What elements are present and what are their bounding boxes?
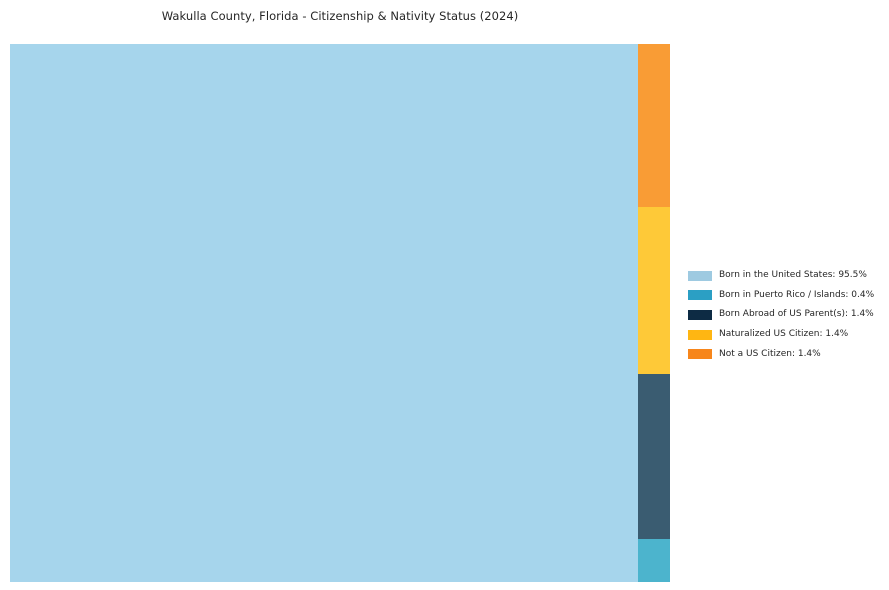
legend-item-not-a-us-citizen[interactable]: Not a US Citizen: 1.4% [688, 344, 878, 364]
legend-swatch-icon [688, 271, 712, 281]
legend-label: Naturalized US Citizen: 1.4% [719, 330, 848, 339]
legend-item-born-in-the-united-states[interactable]: Born in the United States: 95.5% [688, 266, 878, 286]
legend-label: Born in Puerto Rico / Islands: 0.4% [719, 291, 874, 300]
legend-item-born-in-puerto-rico-islands[interactable]: Born in Puerto Rico / Islands: 0.4% [688, 286, 878, 306]
legend-item-born-abroad-of-us-parents[interactable]: Born Abroad of US Parent(s): 1.4% [688, 305, 878, 325]
treemap-tile-born-abroad-of-us-parents[interactable] [638, 374, 670, 539]
treemap-figure: Wakulla County, Florida - Citizenship & … [0, 0, 889, 590]
treemap-tile-naturalized-us-citizen[interactable] [638, 207, 670, 374]
legend-label: Born in the United States: 95.5% [719, 271, 867, 280]
treemap-tile-born-in-the-united-states[interactable] [10, 44, 638, 582]
legend-swatch-icon [688, 330, 712, 340]
legend-label: Born Abroad of US Parent(s): 1.4% [719, 310, 874, 319]
legend-label: Not a US Citizen: 1.4% [719, 350, 821, 359]
treemap-tile-not-a-us-citizen[interactable] [638, 44, 670, 207]
legend-swatch-icon [688, 290, 712, 300]
chart-title: Wakulla County, Florida - Citizenship & … [0, 9, 680, 23]
legend-swatch-icon [688, 310, 712, 320]
treemap-plot-area [10, 44, 670, 582]
treemap-tile-born-in-puerto-rico-islands[interactable] [638, 539, 670, 582]
legend-swatch-icon [688, 349, 712, 359]
chart-legend: Born in the United States: 95.5% Born in… [688, 266, 878, 364]
legend-item-naturalized-us-citizen[interactable]: Naturalized US Citizen: 1.4% [688, 325, 878, 345]
